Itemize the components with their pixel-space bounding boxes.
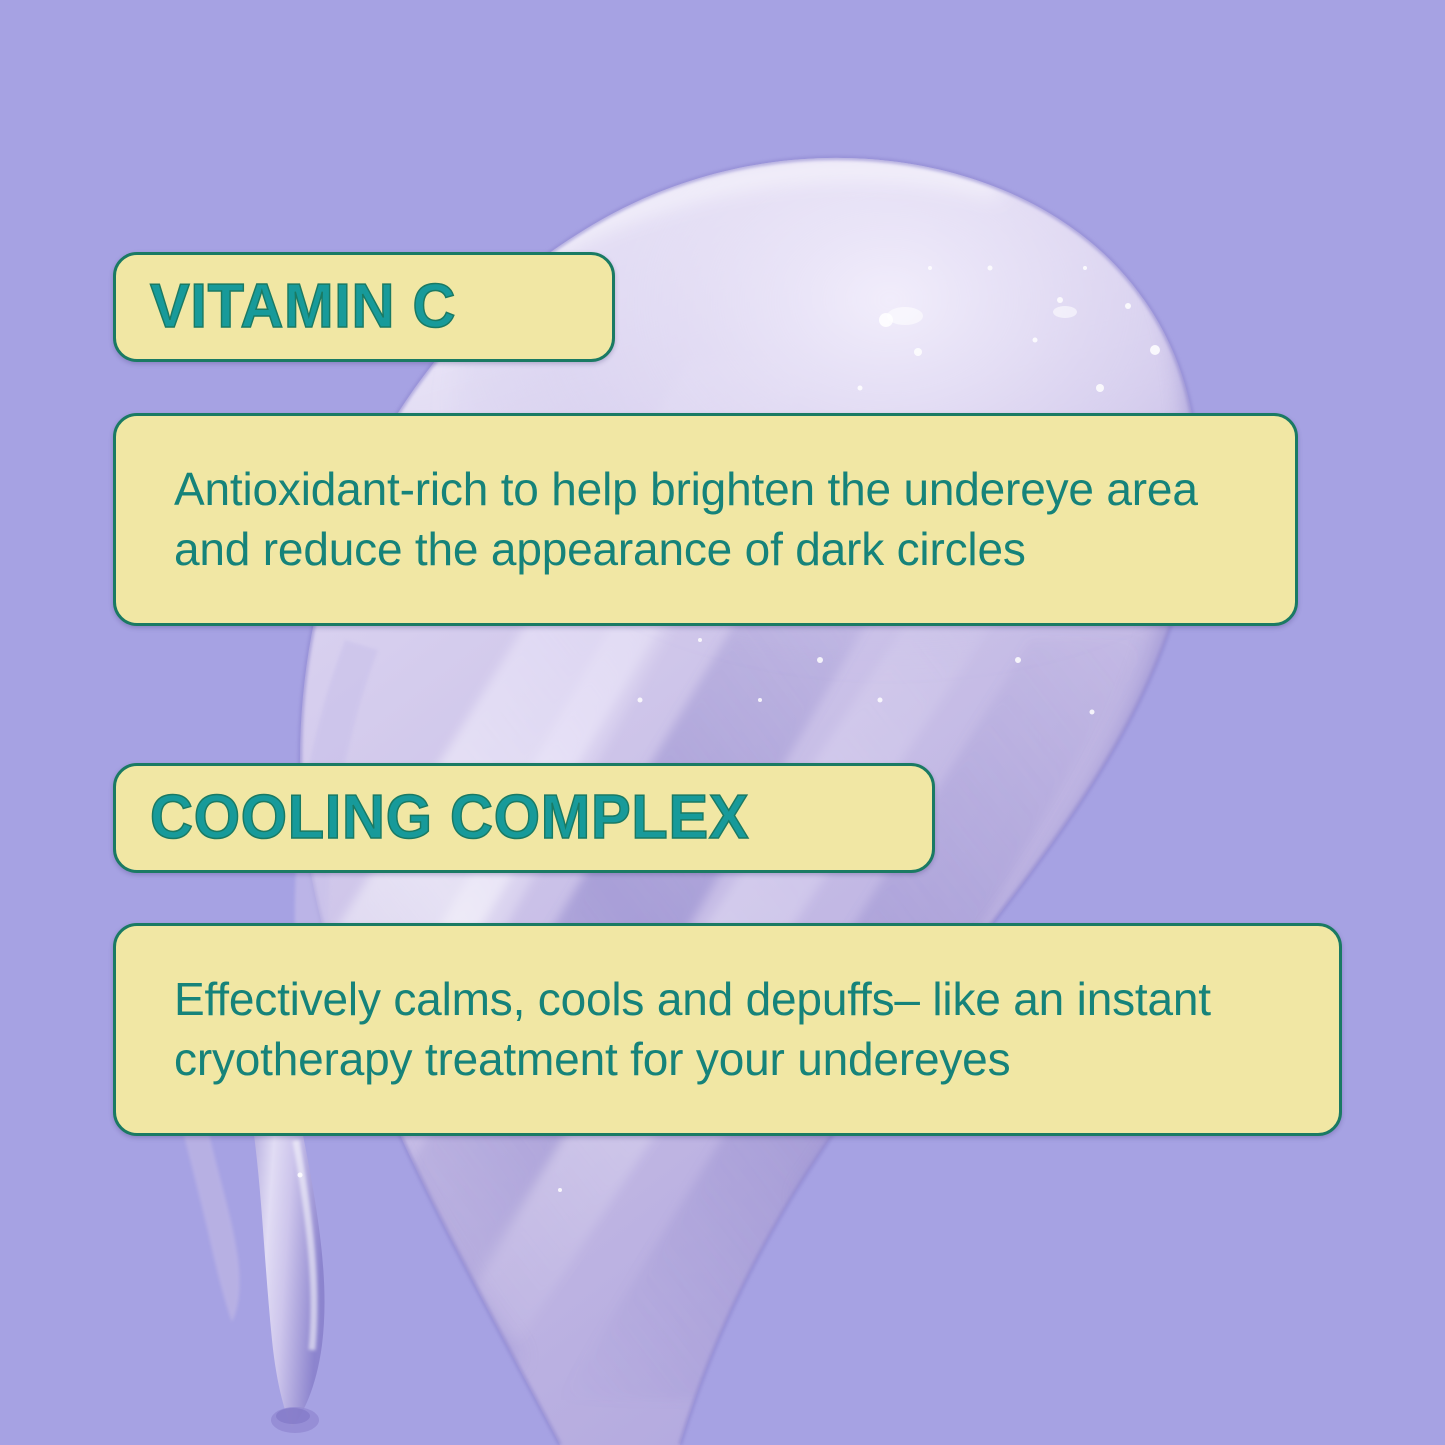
benefit-heading-label: COOLING COMPLEX (150, 787, 749, 849)
benefit-description-text: Antioxidant-rich to help brighten the un… (174, 460, 1237, 580)
gel-swatch-background (0, 0, 1445, 1445)
benefit-description-card-cooling-complex: Effectively calms, cools and depuffs– li… (113, 923, 1342, 1136)
benefit-description-text: Effectively calms, cools and depuffs– li… (174, 970, 1281, 1090)
benefit-heading-label: VITAMIN C (150, 276, 456, 338)
product-benefits-graphic: VITAMIN C Antioxidant-rich to help brigh… (0, 0, 1445, 1445)
benefit-description-card-vitamin-c: Antioxidant-rich to help brighten the un… (113, 413, 1298, 626)
benefit-heading-pill-vitamin-c: VITAMIN C (113, 252, 615, 362)
benefit-heading-pill-cooling-complex: COOLING COMPLEX (113, 763, 935, 873)
